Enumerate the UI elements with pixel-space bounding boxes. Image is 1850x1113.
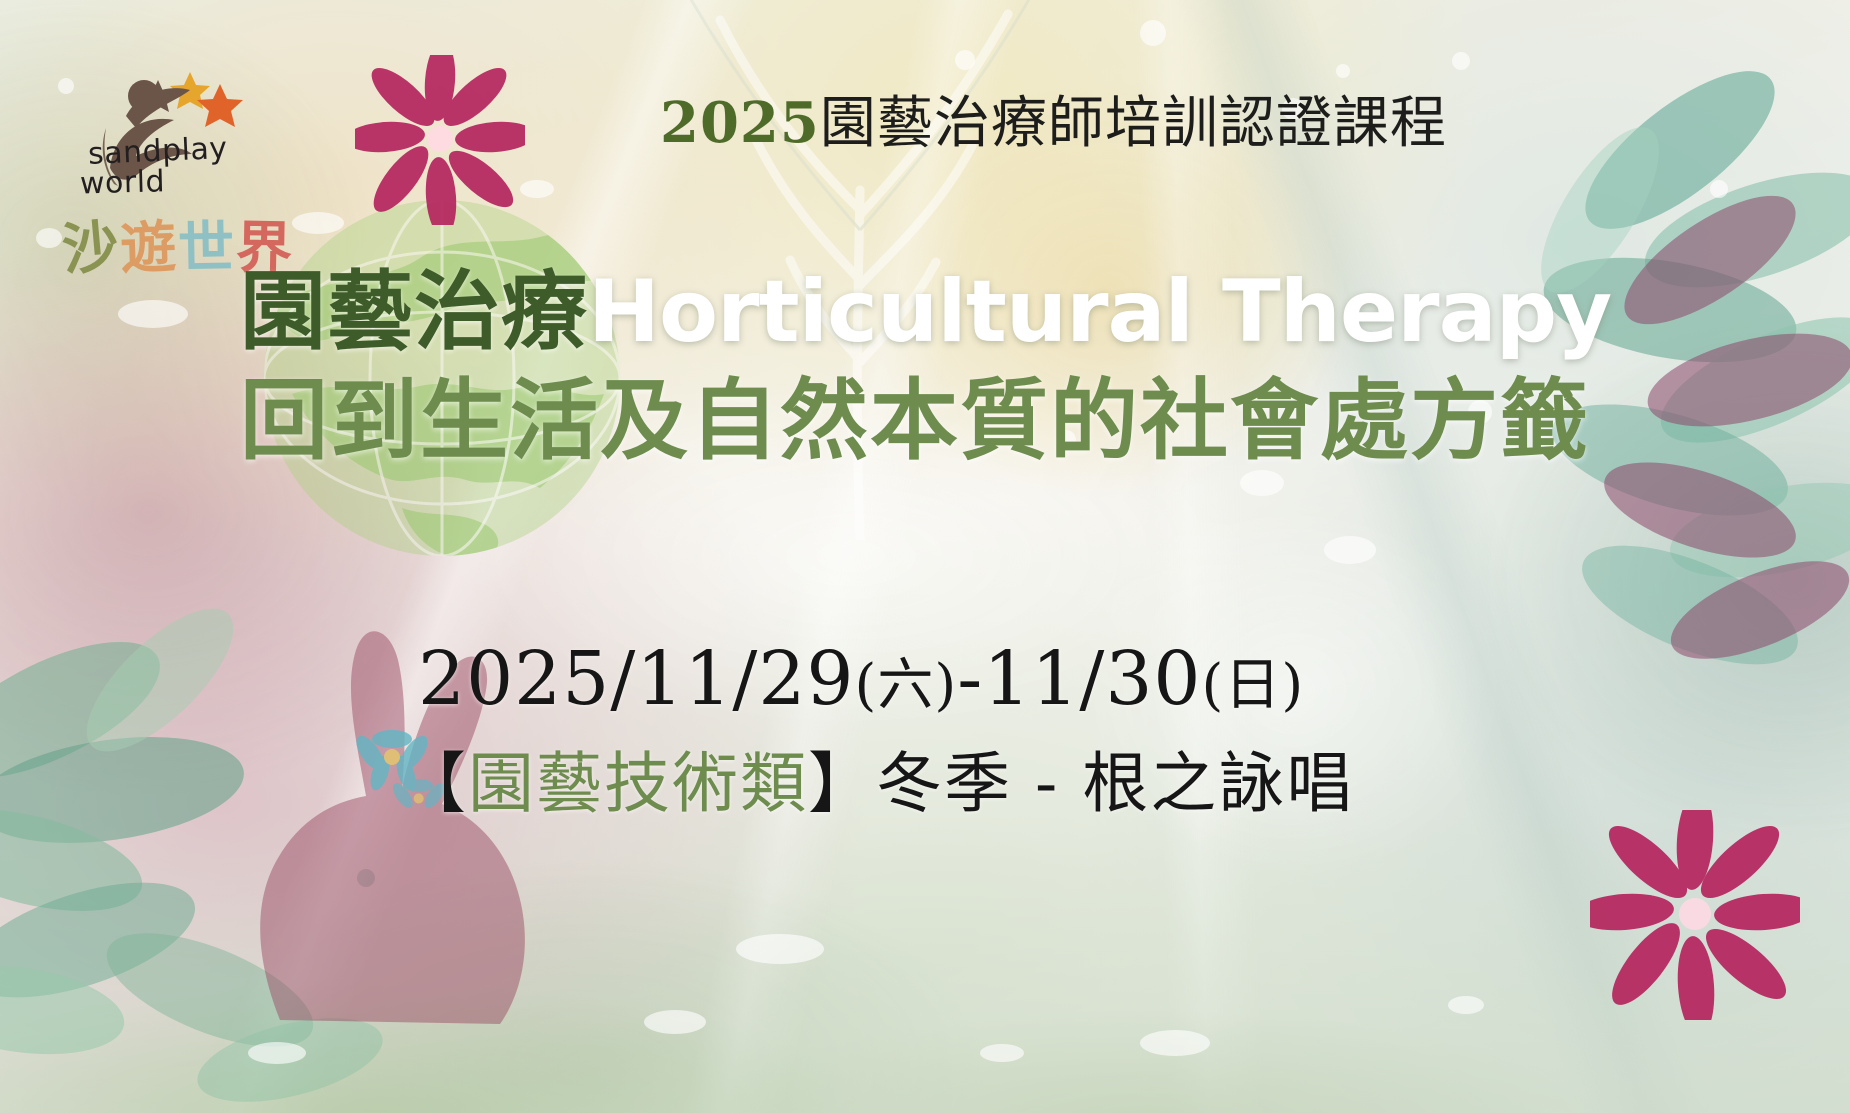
- date-end: 11/30: [983, 636, 1201, 722]
- magenta-flower-icon: [1590, 810, 1800, 1020]
- event-date: 2025/11/29(六)-11/30(日): [418, 636, 1304, 722]
- session-category: 園藝技術類: [468, 745, 808, 822]
- bokeh-dot: [1448, 996, 1484, 1014]
- bokeh-dot: [1240, 470, 1284, 496]
- bokeh-dot: [736, 934, 824, 964]
- logo-char-shi: 世: [177, 203, 236, 285]
- sandplay-world-logo[interactable]: sandplay world 沙遊世界: [40, 28, 310, 258]
- logo-english-line2: world: [80, 164, 269, 200]
- magenta-flower-icon: [355, 55, 525, 225]
- course-header-year: 2025: [660, 90, 820, 156]
- bokeh-dot: [644, 1010, 706, 1034]
- session-subtitle: 【園藝技術類】冬季 - 根之詠唱: [400, 730, 1354, 826]
- bokeh-dot: [248, 1042, 306, 1064]
- title-chinese: 園藝治療: [240, 262, 588, 362]
- bokeh-dot: [118, 300, 188, 328]
- bokeh-dot: [1710, 180, 1728, 198]
- bokeh-dot: [1336, 64, 1350, 78]
- bokeh-dot: [980, 1044, 1024, 1062]
- title-subtitle-chinese: 回到生活及自然本質的社會處方籤: [240, 369, 1590, 472]
- session-name: 冬季 - 根之詠唱: [876, 745, 1354, 822]
- main-title-block: 園藝治療Horticultural Therapy 回到生活及自然本質的社會處方…: [240, 266, 1640, 468]
- logo-english-text: sandplay world: [88, 136, 268, 197]
- course-header-text: 園藝治療師培訓認證課程: [820, 91, 1447, 156]
- bokeh-dot: [1324, 536, 1376, 564]
- date-separator: -: [957, 636, 983, 722]
- logo-char-sha: 沙: [59, 201, 124, 287]
- title-english: Horticultural Therapy: [588, 262, 1611, 362]
- date-start: 2025/11/29: [418, 636, 855, 722]
- title-line-2: 回到生活及自然本質的社會處方籤: [240, 373, 1640, 468]
- bokeh-dot: [1140, 20, 1166, 46]
- bracket-open: 【: [400, 745, 468, 822]
- bracket-close: 】: [808, 745, 876, 822]
- course-header: 2025園藝治療師培訓認證課程: [660, 78, 1447, 159]
- bokeh-dot: [1140, 1030, 1210, 1056]
- date-start-weekday: (六): [855, 653, 958, 718]
- logo-char-you: 遊: [119, 202, 180, 285]
- title-line-1: 園藝治療Horticultural Therapy: [240, 266, 1640, 359]
- date-end-weekday: (日): [1202, 653, 1305, 718]
- bokeh-dot: [955, 50, 975, 70]
- bokeh-dot: [520, 180, 554, 198]
- bokeh-dot: [1452, 52, 1470, 70]
- promo-banner: sandplay world 沙遊世界 2025園藝治療師培訓認證課程 園藝治療…: [0, 0, 1850, 1113]
